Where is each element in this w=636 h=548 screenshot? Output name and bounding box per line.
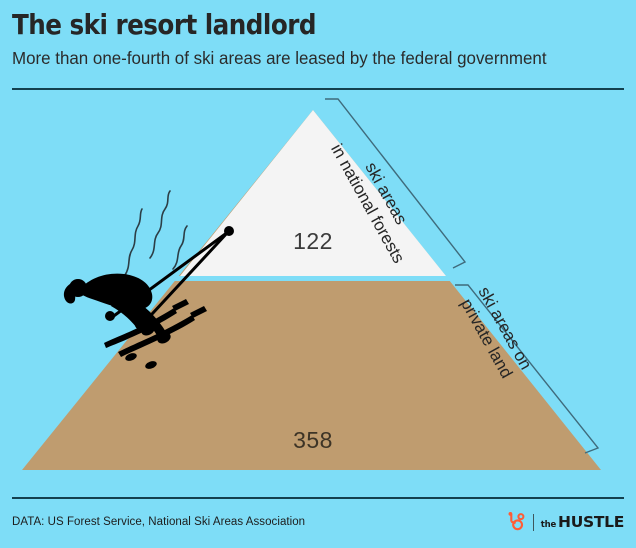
snow-cap-value: 122	[253, 228, 373, 255]
brand-wordmark: the HUSTLE	[541, 513, 624, 531]
infographic-root: The ski resort landlord More than one-fo…	[0, 0, 636, 548]
footer-divider	[12, 497, 624, 499]
brand-divider	[533, 514, 534, 531]
hubspot-sprocket-icon	[504, 511, 526, 533]
mountain-base-value: 358	[253, 427, 373, 454]
brand-the: the	[541, 520, 556, 530]
brand-hustle: HUSTLE	[558, 513, 624, 531]
segment-gap	[160, 276, 480, 281]
ski-pole-grip-icon	[224, 226, 234, 236]
brand-lockup: the HUSTLE	[504, 511, 624, 533]
mountain-chart	[0, 0, 636, 548]
footer: DATA: US Forest Service, National Ski Ar…	[12, 508, 624, 536]
data-source-text: DATA: US Forest Service, National Ski Ar…	[12, 516, 305, 528]
motion-lines-icon	[125, 191, 187, 275]
